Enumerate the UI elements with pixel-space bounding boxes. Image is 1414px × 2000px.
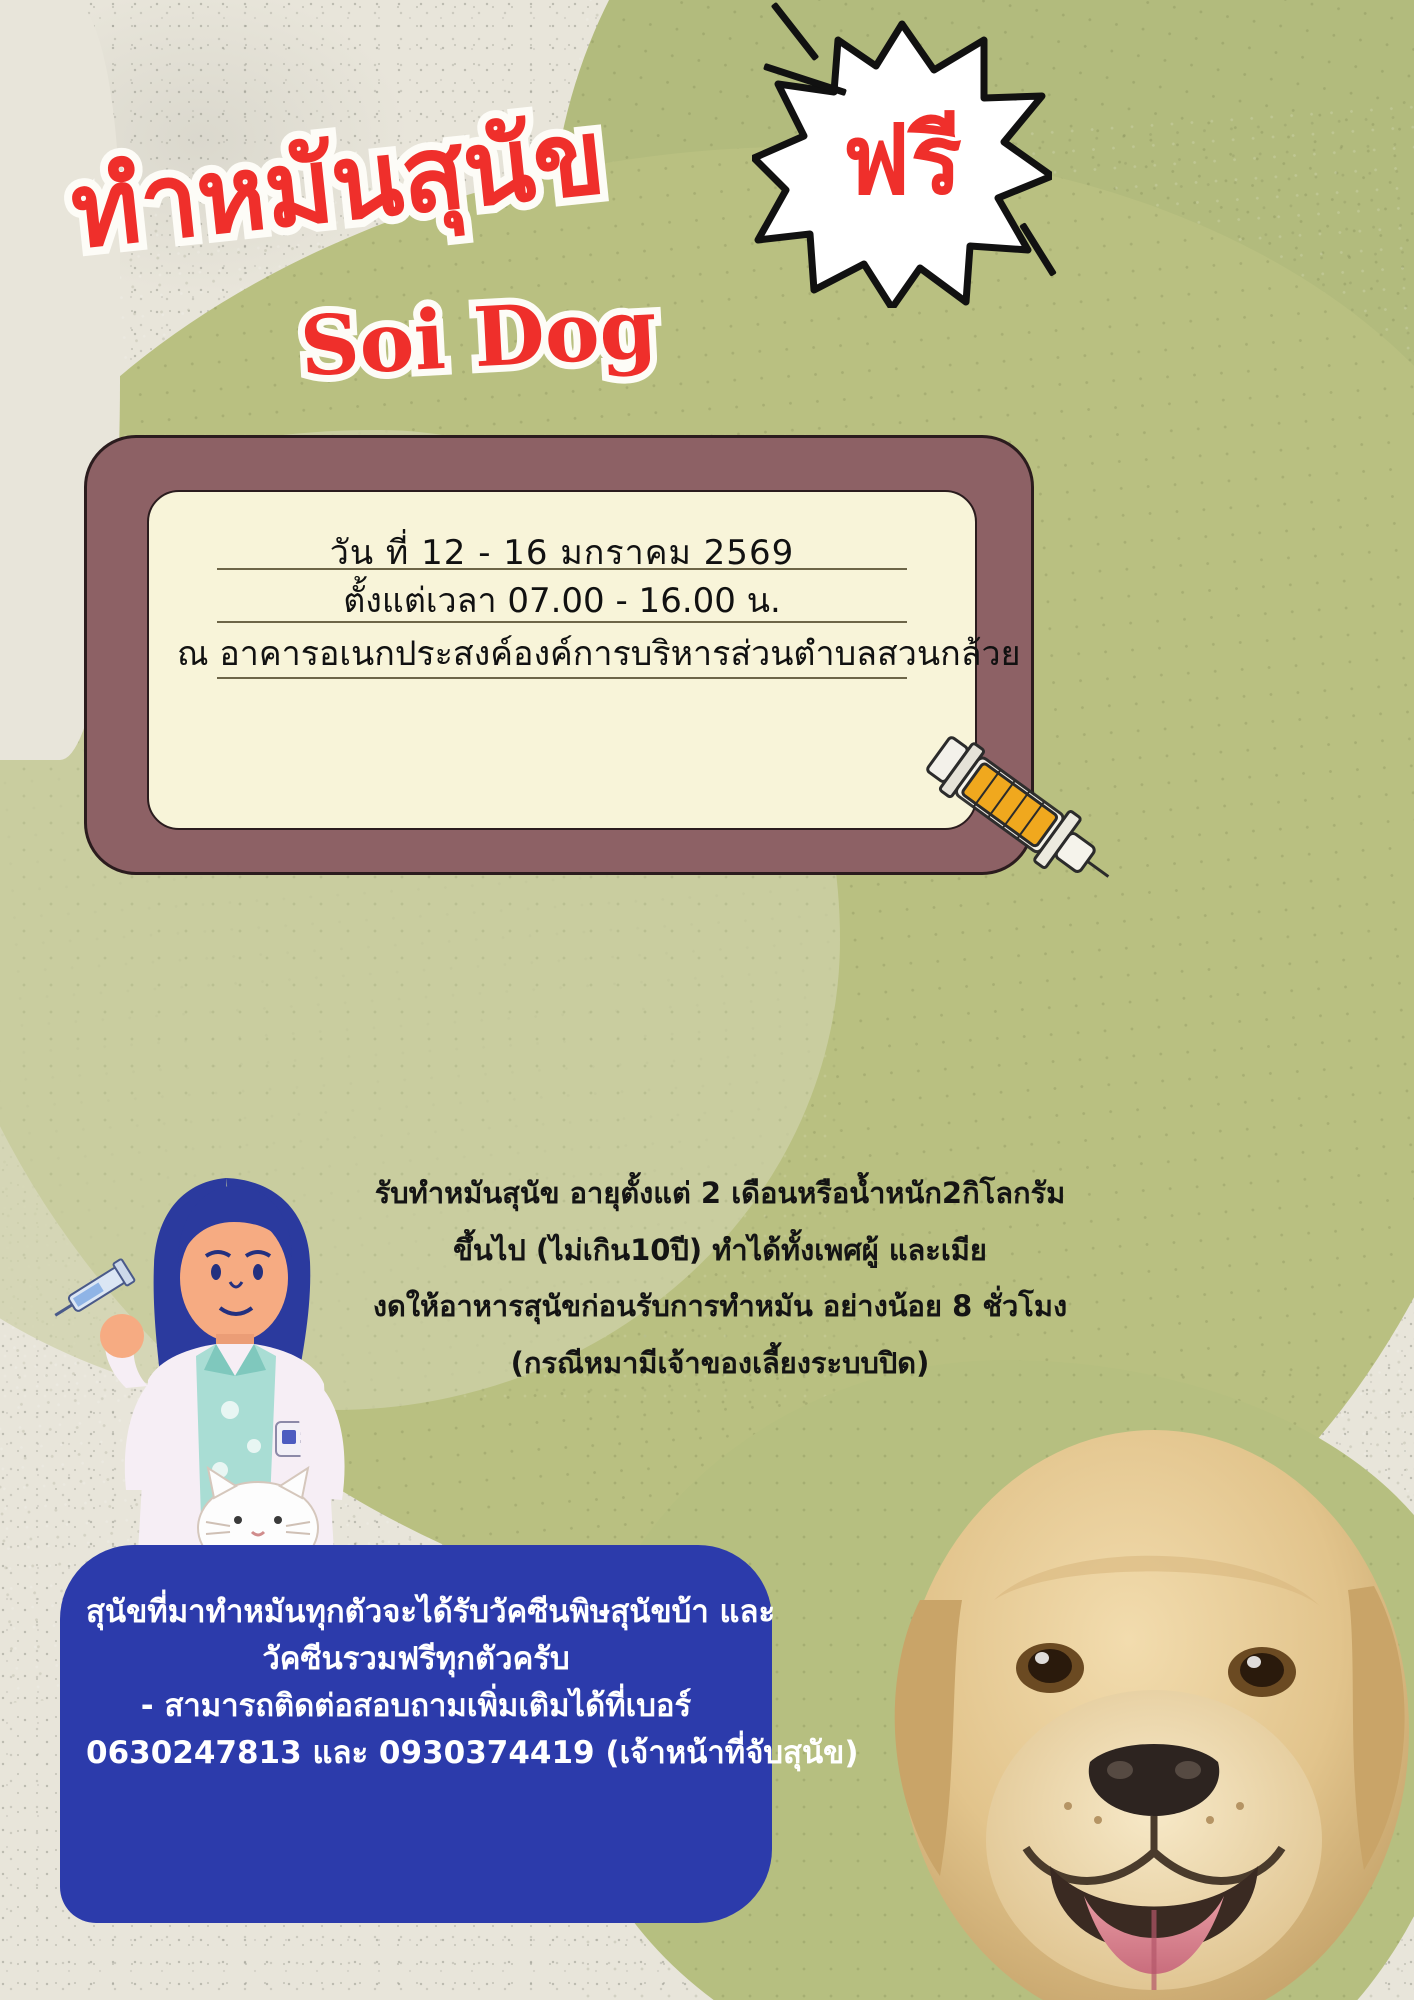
poster-canvas: ทำหมันสุนัข Soi Dog ฟรี วัน ที่ 12 - 16 …	[0, 0, 1414, 2000]
info-card-paper: วัน ที่ 12 - 16 มกราคม 2569 ตั้งแต่เวลา …	[147, 490, 977, 830]
body-line: (กรณีหมามีเจ้าของเลี้ยงระบบปิด)	[360, 1335, 1080, 1392]
event-place: ณ อาคารอเนกประสงค์องค์การบริหารส่วนตำบลส…	[177, 633, 947, 677]
callout-phone-numbers: 0630247813 และ 0930374419 (เจ้าหน้าที่จั…	[86, 1730, 746, 1777]
body-line: รับทำหมันสุนัข อายุตั้งแต่ 2 เดือนหรือน้…	[360, 1165, 1080, 1222]
free-badge-label: ฟรี	[752, 18, 1052, 308]
body-line: ขึ้นไป (ไม่เกิน10ปี) ทำได้ทั้งเพศผู้ และ…	[360, 1222, 1080, 1279]
body-copy: รับทำหมันสุนัข อายุตั้งแต่ 2 เดือนหรือน้…	[360, 1165, 1080, 1391]
dog-photo	[854, 1300, 1414, 2000]
callout-line: สุนัขที่มาทำหมันทุกตัวจะได้รับวัคซีนพิษส…	[86, 1589, 746, 1636]
body-line: งดให้อาหารสุนัขก่อนรับการทำหมัน อย่างน้อ…	[360, 1278, 1080, 1335]
subtitle-soi-dog: Soi Dog	[298, 281, 659, 396]
divider	[217, 677, 907, 679]
event-time: ตั้งแต่เวลา 07.00 - 16.00 น.	[177, 580, 947, 624]
veterinarian-illustration	[30, 1160, 450, 1590]
free-badge: ฟรี	[752, 18, 1052, 308]
callout-line: - สามารถติดต่อสอบถามเพิ่มเติมได้ที่เบอร์	[86, 1683, 746, 1730]
contact-callout: สุนัขที่มาทำหมันทุกตัวจะได้รับวัคซีนพิษส…	[60, 1545, 772, 1923]
callout-line: วัคซีนรวมฟรีทุกตัวครับ	[86, 1636, 746, 1683]
event-date: วัน ที่ 12 - 16 มกราคม 2569	[177, 532, 947, 576]
